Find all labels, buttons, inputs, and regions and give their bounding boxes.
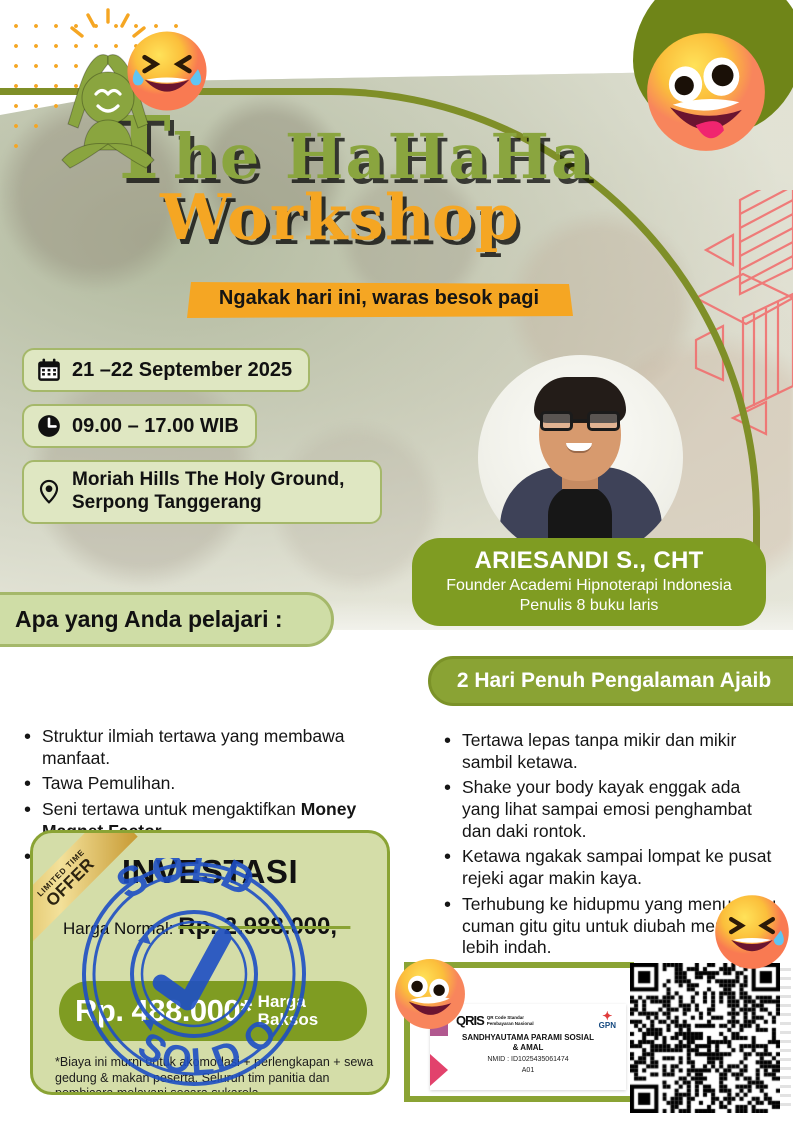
list-item-text: Seni tertawa untuk mengaktifkan <box>42 799 301 819</box>
qris-subtitle: QR Code Standar Pembayaran Nasional <box>487 1015 534 1026</box>
sold-out-stamp: SOLD OUT SOLD OUT <box>78 858 310 1090</box>
experience-section-heading: 2 Hari Penuh Pengalaman Ajaib <box>428 656 793 706</box>
calendar-icon <box>36 357 62 383</box>
rolling-on-floor-laughing-emoji <box>124 28 210 114</box>
event-location-pill: Moriah Hills The Holy Ground, Serpong Ta… <box>22 460 382 524</box>
event-time-text: 09.00 – 17.00 WIB <box>72 415 239 438</box>
title-line-2: Workshop <box>0 186 640 249</box>
gpn-bird-icon: ✦ <box>599 1011 616 1021</box>
stamp-text-top: SOLD OUT <box>78 858 289 959</box>
speaker-photo <box>478 355 683 560</box>
list-item: Tawa Pemulihan. <box>20 773 392 795</box>
speaker-name: ARIESANDI S., CHT <box>426 547 752 575</box>
qr-code[interactable] <box>630 963 780 1113</box>
qris-corner-triangle <box>430 1054 448 1086</box>
merchant-name-line-2: & AMAL <box>513 1043 544 1052</box>
merchant-nmid: NMID : ID1025435061474 <box>430 1056 626 1063</box>
list-item: Struktur ilmiah tertawa yang membawa man… <box>20 726 392 769</box>
learn-section-heading: Apa yang Anda pelajari : <box>0 592 334 647</box>
merchant-name: SANDHYAUTAMA PARAMI SOSIAL & AMAL <box>430 1033 626 1053</box>
speaker-glasses-icon <box>540 411 620 431</box>
list-item-text: Tawa Pemulihan. <box>42 773 175 793</box>
event-poster: The HaHaHa Workshop Ngakak hari ini, war… <box>0 0 793 1122</box>
event-date-pill: 21 –22 September 2025 <box>22 348 310 392</box>
frame-bottom-line <box>404 1096 634 1102</box>
list-item: Shake your body kayak enggak ada yang li… <box>440 777 780 842</box>
gpn-label: GPN <box>599 1021 616 1030</box>
speaker-role-line-2: Penulis 8 buku laris <box>426 597 752 615</box>
rolling-on-floor-laughing-emoji <box>712 892 792 972</box>
list-item-text: Struktur ilmiah tertawa yang membawa man… <box>42 726 344 768</box>
event-location-text: Moriah Hills The Holy Ground, Serpong Ta… <box>72 469 364 515</box>
event-date-text: 21 –22 September 2025 <box>72 359 292 382</box>
merchant-terminal: A01 <box>430 1067 626 1074</box>
tagline: Ngakak hari ini, waras besok pagi <box>185 287 573 310</box>
gpn-logo: ✦ GPN <box>599 1011 616 1030</box>
speaker-role-line-1: Founder Academi Hipnoterapi Indonesia <box>426 577 752 595</box>
zany-face-emoji <box>642 28 770 156</box>
list-item: Ketawa ngakak sampai lompat ke pusat rej… <box>440 846 780 889</box>
event-time-pill: 09.00 – 17.00 WIB <box>22 404 257 448</box>
qris-subtitle-line-2: Pembayaran Nasional <box>487 1021 534 1026</box>
merchant-name-line-1: SANDHYAUTAMA PARAMI SOSIAL <box>462 1033 594 1042</box>
zany-face-emoji <box>392 956 468 1032</box>
qris-subtitle-line-1: QR Code Standar <box>487 1015 524 1020</box>
svg-text:SOLD OUT: SOLD OUT <box>78 858 289 959</box>
clock-icon <box>36 413 62 439</box>
list-item: Tertawa lepas tanpa mikir dan mikir samb… <box>440 730 780 773</box>
speaker-info-card: ARIESANDI S., CHT Founder Academi Hipnot… <box>412 538 766 626</box>
map-pin-icon <box>36 479 62 505</box>
